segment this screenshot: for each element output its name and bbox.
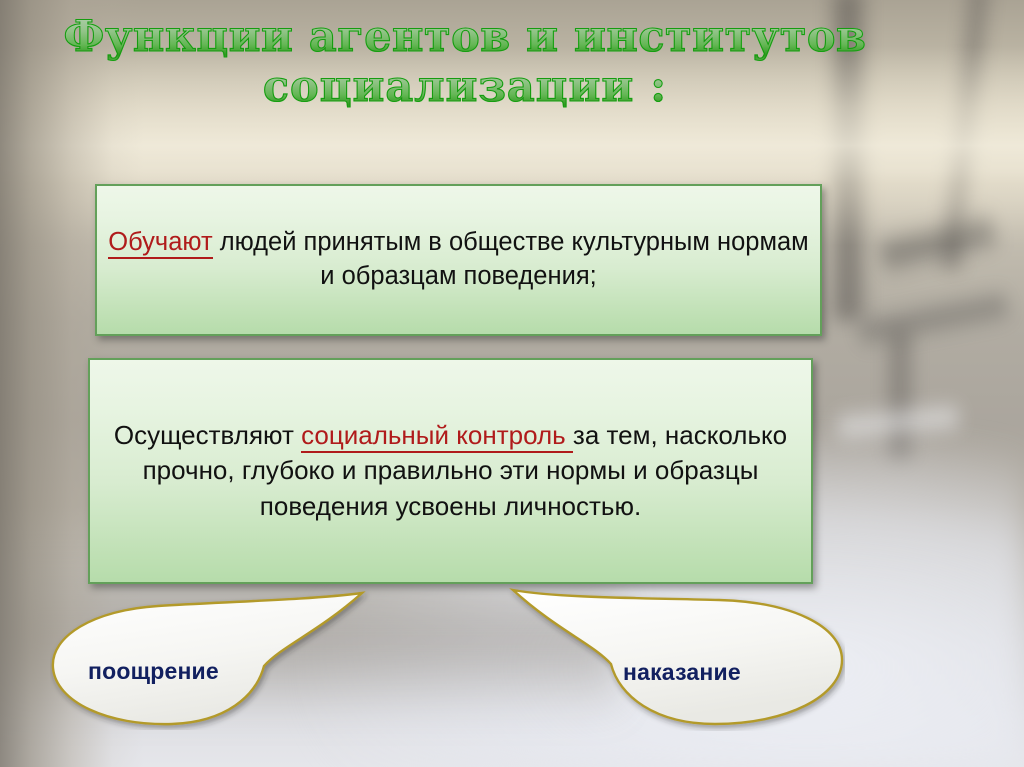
background-rail xyxy=(876,207,999,279)
info-box-control: Осуществляют социальный контроль за тем,… xyxy=(88,358,813,584)
info-box-teach-rest: людей принятым в обществе культурным нор… xyxy=(213,228,809,290)
callout-punish-label: наказание xyxy=(623,659,741,686)
slide-canvas: Функции агентов и институтов социализаци… xyxy=(0,0,1024,767)
info-box-control-lead: Осуществляют xyxy=(114,420,301,450)
highlight-social-control: социальный контроль xyxy=(301,420,573,453)
info-box-teach: Обучают людей принятым в обществе культу… xyxy=(95,184,822,336)
callout-punish[interactable]: наказание xyxy=(495,586,845,731)
info-box-control-text: Осуществляют социальный контроль за тем,… xyxy=(90,418,811,524)
callout-reward-label: поощрение xyxy=(88,658,219,685)
background-rail xyxy=(856,286,1010,352)
title-line-1: Функции агентов и институтов xyxy=(64,16,867,66)
callout-reward[interactable]: поощрение xyxy=(50,588,390,730)
info-box-teach-text: Обучают людей принятым в обществе культу… xyxy=(97,226,820,294)
title-line-2: социализации : xyxy=(263,66,667,116)
page-title: Функции агентов и институтов социализаци… xyxy=(0,16,930,116)
highlight-obuchayut: Обучают xyxy=(108,228,212,259)
